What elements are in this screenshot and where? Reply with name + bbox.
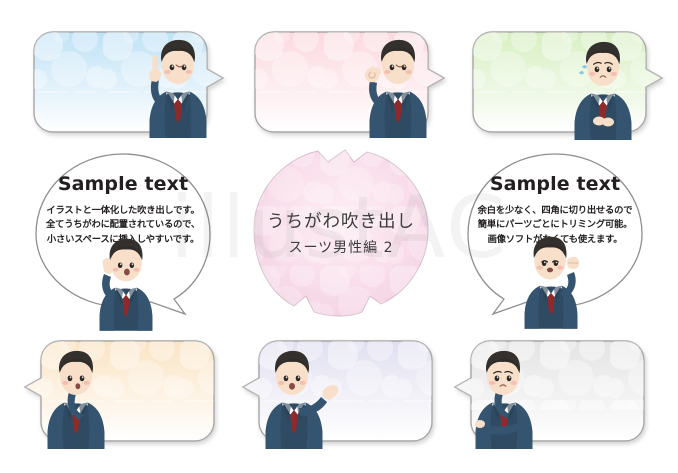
right-bubble-line-2: 簡単にパーツごとにトリミング可能。 <box>465 218 645 232</box>
bubble-worried[interactable] <box>470 340 645 442</box>
bubble-pointing-up[interactable] <box>33 31 208 133</box>
character-worried-arms-crossed <box>466 352 546 444</box>
center-bubble-title: うちがわ吹き出し <box>250 212 432 233</box>
right-bubble-line-1: 余白を少なく、四角に切り出せるので <box>465 204 645 218</box>
illustration-sheet: illustAC <box>0 0 678 473</box>
bubble-troubled[interactable] <box>472 31 647 133</box>
right-bubble-text: Sample text 余白を少なく、四角に切り出せるので 簡単にパーツごとにト… <box>465 174 645 247</box>
right-bubble-headline: Sample text <box>465 174 645 195</box>
character-pointing-up <box>136 43 214 135</box>
character-whisper <box>89 244 163 320</box>
character-thinking <box>38 352 116 444</box>
left-bubble-line-2: 全てうちがわに配置されているので、 <box>33 218 213 232</box>
character-ok-sign <box>353 43 433 135</box>
bubble-ok-sign[interactable] <box>254 31 429 133</box>
bubble-title[interactable]: うちがわ吹き出し スーツ男性編 2 <box>250 146 432 321</box>
bubble-whisper[interactable]: Sample text イラストと一体化した吹き出しです。 全てうちがわに配置さ… <box>33 152 213 316</box>
left-bubble-headline: Sample text <box>33 174 213 195</box>
character-presenting <box>256 352 348 444</box>
bubble-presenting[interactable] <box>258 340 433 442</box>
bubble-thinking[interactable] <box>40 340 215 442</box>
bubble-cheer[interactable]: Sample text 余白を少なく、四角に切り出せるので 簡単にパーツごとにト… <box>465 152 645 316</box>
left-bubble-line-1: イラストと一体化した吹き出しです。 <box>33 204 213 218</box>
center-bubble-text: うちがわ吹き出し スーツ男性編 2 <box>250 212 432 257</box>
character-cheer-fist <box>517 242 597 320</box>
left-bubble-text: Sample text イラストと一体化した吹き出しです。 全てうちがわに配置さ… <box>33 174 213 247</box>
center-bubble-subtitle: スーツ男性編 2 <box>250 240 432 257</box>
character-troubled-sweat <box>563 43 643 135</box>
